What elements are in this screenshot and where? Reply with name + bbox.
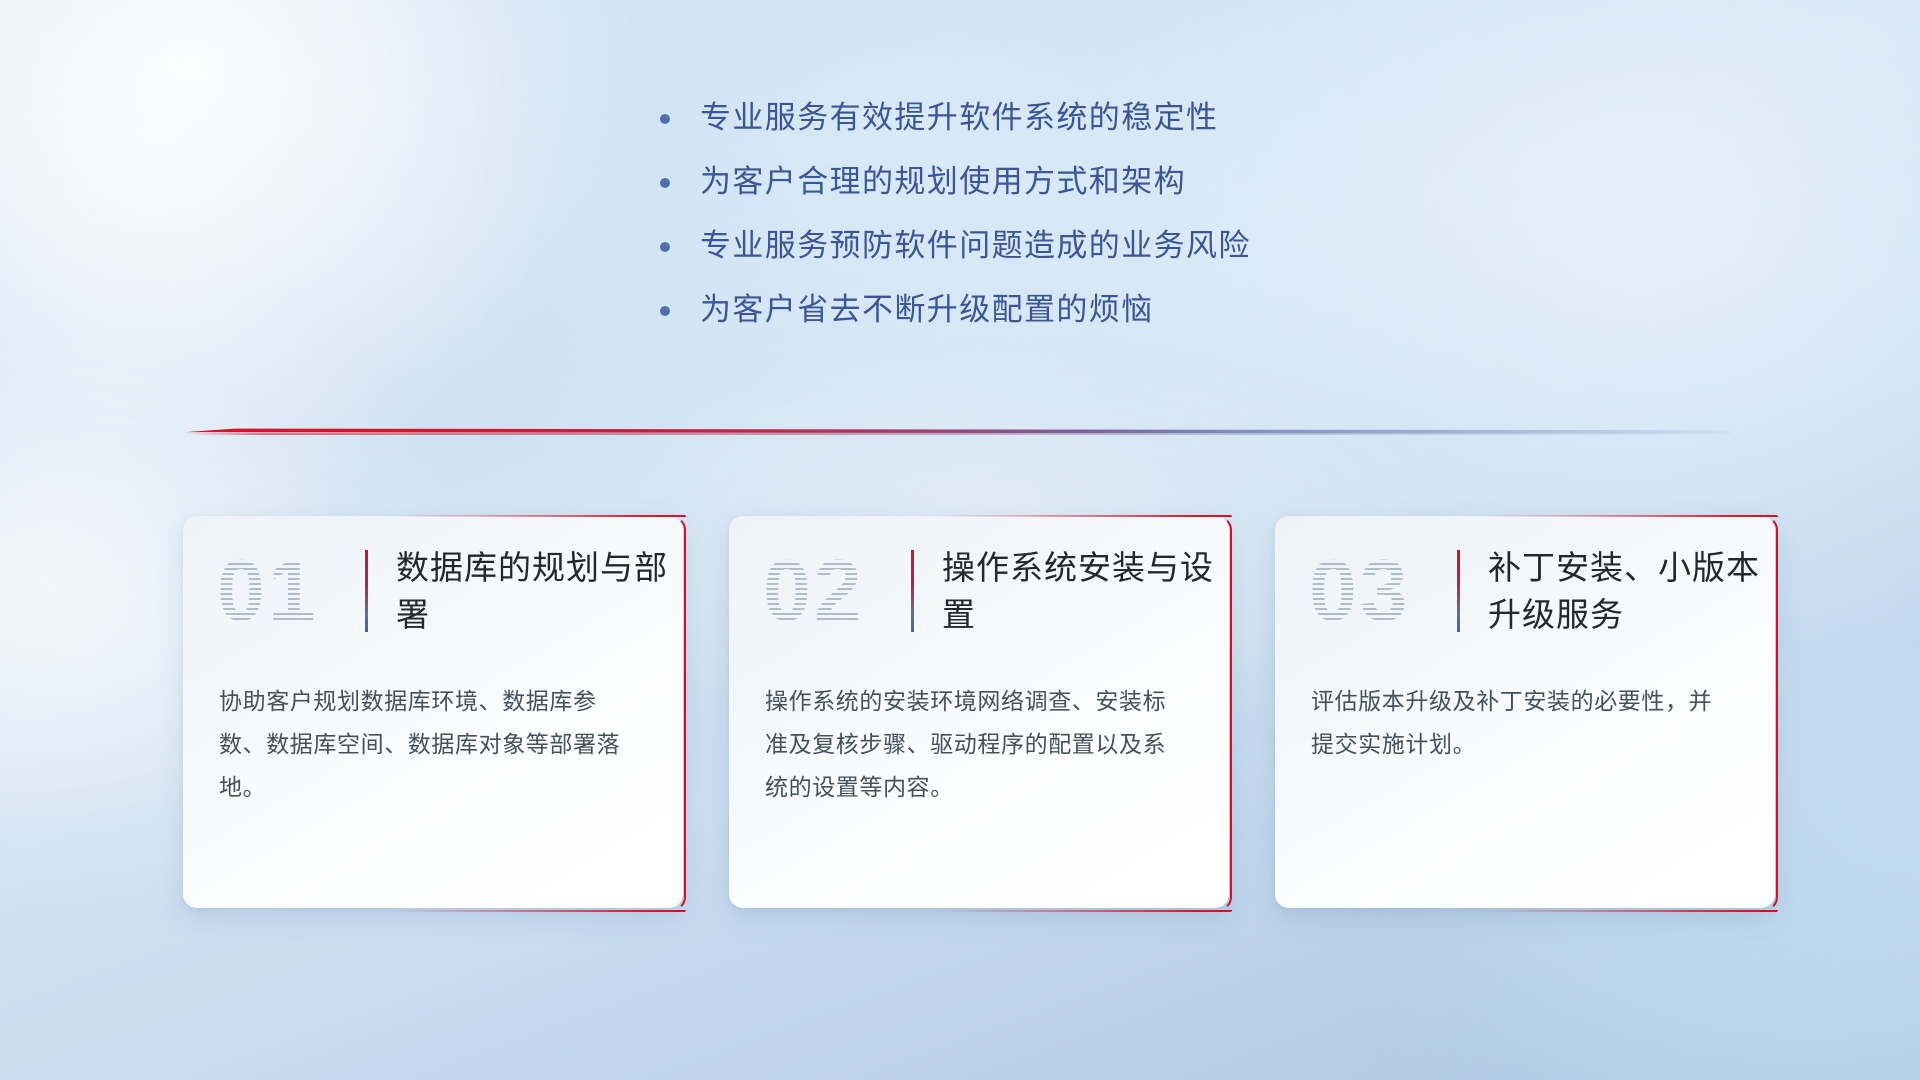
- list-item: 专业服务预防软件问题造成的业务风险: [660, 224, 1420, 288]
- card-title: 数据库的规划与部署: [396, 544, 683, 638]
- service-card-01[interactable]: 01 数据库的规划与部署 协助客户规划数据库环境、数据库参数、数据库空间、数据库…: [183, 516, 683, 908]
- card-title-rule: [1457, 550, 1460, 632]
- bullet-text: 为客户合理的规划使用方式和架构: [700, 160, 1186, 204]
- card-accent-edge-bottom: [193, 910, 686, 912]
- card-title: 操作系统安装与设置: [942, 544, 1229, 638]
- list-item: 为客户省去不断升级配置的烦恼: [660, 288, 1420, 352]
- bullet-text: 为客户省去不断升级配置的烦恼: [700, 288, 1154, 332]
- service-card-02[interactable]: 02 操作系统安装与设置 操作系统的安装环境网络调查、安装标准及复核步骤、驱动程…: [729, 516, 1229, 908]
- card-title-rule: [911, 550, 914, 632]
- card-body-text: 评估版本升级及补丁安装的必要性，并提交实施计划。: [1275, 666, 1775, 766]
- benefits-bullet-list: 专业服务有效提升软件系统的稳定性 为客户合理的规划使用方式和架构 专业服务预防软…: [660, 96, 1420, 352]
- service-card-03[interactable]: 03 补丁安装、小版本升级服务 评估版本升级及补丁安装的必要性，并提交实施计划。: [1275, 516, 1775, 908]
- bullet-dot-icon: [660, 114, 670, 124]
- card-header: 01 数据库的规划与部署: [183, 516, 683, 666]
- card-body-text: 操作系统的安装环境网络调查、安装标准及复核步骤、驱动程序的配置以及系统的设置等内…: [729, 666, 1229, 809]
- list-item: 为客户合理的规划使用方式和架构: [660, 160, 1420, 224]
- card-header: 02 操作系统安装与设置: [729, 516, 1229, 666]
- slide-root: 专业服务有效提升软件系统的稳定性 为客户合理的规划使用方式和架构 专业服务预防软…: [0, 0, 1920, 1080]
- bullet-dot-icon: [660, 242, 670, 252]
- card-accent-edge-bottom: [739, 910, 1232, 912]
- card-title: 补丁安装、小版本升级服务: [1488, 544, 1775, 638]
- divider-hairline: [185, 433, 1730, 435]
- card-number-watermark: 01: [217, 548, 365, 634]
- card-header: 03 补丁安装、小版本升级服务: [1275, 516, 1775, 666]
- list-item: 专业服务有效提升软件系统的稳定性: [660, 96, 1420, 160]
- service-card-group: 01 数据库的规划与部署 协助客户规划数据库环境、数据库参数、数据库空间、数据库…: [183, 516, 1777, 908]
- bullet-text: 专业服务预防软件问题造成的业务风险: [700, 224, 1251, 268]
- card-number-watermark: 02: [763, 548, 911, 634]
- card-body-text: 协助客户规划数据库环境、数据库参数、数据库空间、数据库对象等部署落地。: [183, 666, 683, 809]
- card-accent-edge-bottom: [1285, 910, 1778, 912]
- bullet-dot-icon: [660, 178, 670, 188]
- bullet-dot-icon: [660, 306, 670, 316]
- card-title-rule: [365, 550, 368, 632]
- bullet-text: 专业服务有效提升软件系统的稳定性: [700, 96, 1218, 140]
- section-divider: [185, 424, 1730, 440]
- card-number-watermark: 03: [1309, 548, 1457, 634]
